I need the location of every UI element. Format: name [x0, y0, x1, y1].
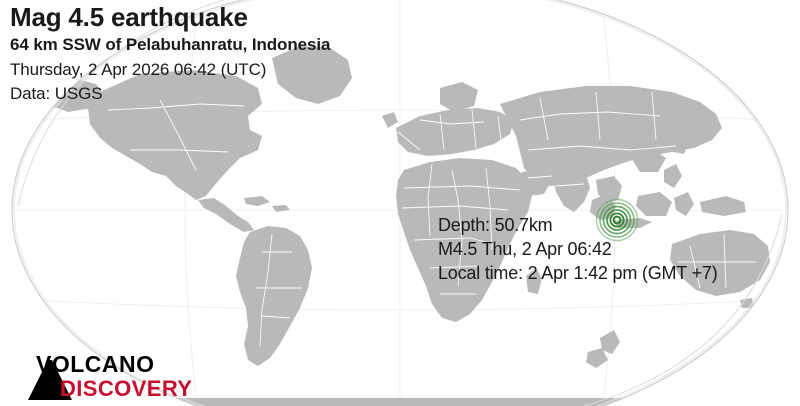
logo-primary-text: VOLCANO — [36, 351, 155, 377]
page-title: Mag 4.5 earthquake — [10, 4, 330, 30]
logo-secondary-text: DISCOVERY — [60, 376, 192, 401]
earthquake-map-page: Mag 4.5 earthquake 64 km SSW of Pelabuha… — [0, 0, 800, 406]
magnitude-time-value: M4.5 Thu, 2 Apr 06:42 — [438, 238, 718, 262]
local-time-value: Local time: 2 Apr 1:42 pm (GMT +7) — [438, 262, 718, 286]
epicenter-marker[interactable] — [595, 198, 639, 242]
data-source-label: Data: USGS — [10, 85, 330, 102]
volcanodiscovery-logo[interactable]: VOLCANO DISCOVERY — [26, 346, 216, 402]
epicenter-center-dot — [616, 219, 618, 221]
depth-value: Depth: 50.7km — [438, 214, 718, 238]
location-subtitle: 64 km SSW of Pelabuhanratu, Indonesia — [10, 36, 330, 53]
event-info-box: Depth: 50.7km M4.5 Thu, 2 Apr 06:42 Loca… — [438, 214, 718, 286]
event-datetime: Thursday, 2 Apr 2026 06:42 (UTC) — [10, 61, 330, 78]
header-block: Mag 4.5 earthquake 64 km SSW of Pelabuha… — [10, 4, 330, 102]
